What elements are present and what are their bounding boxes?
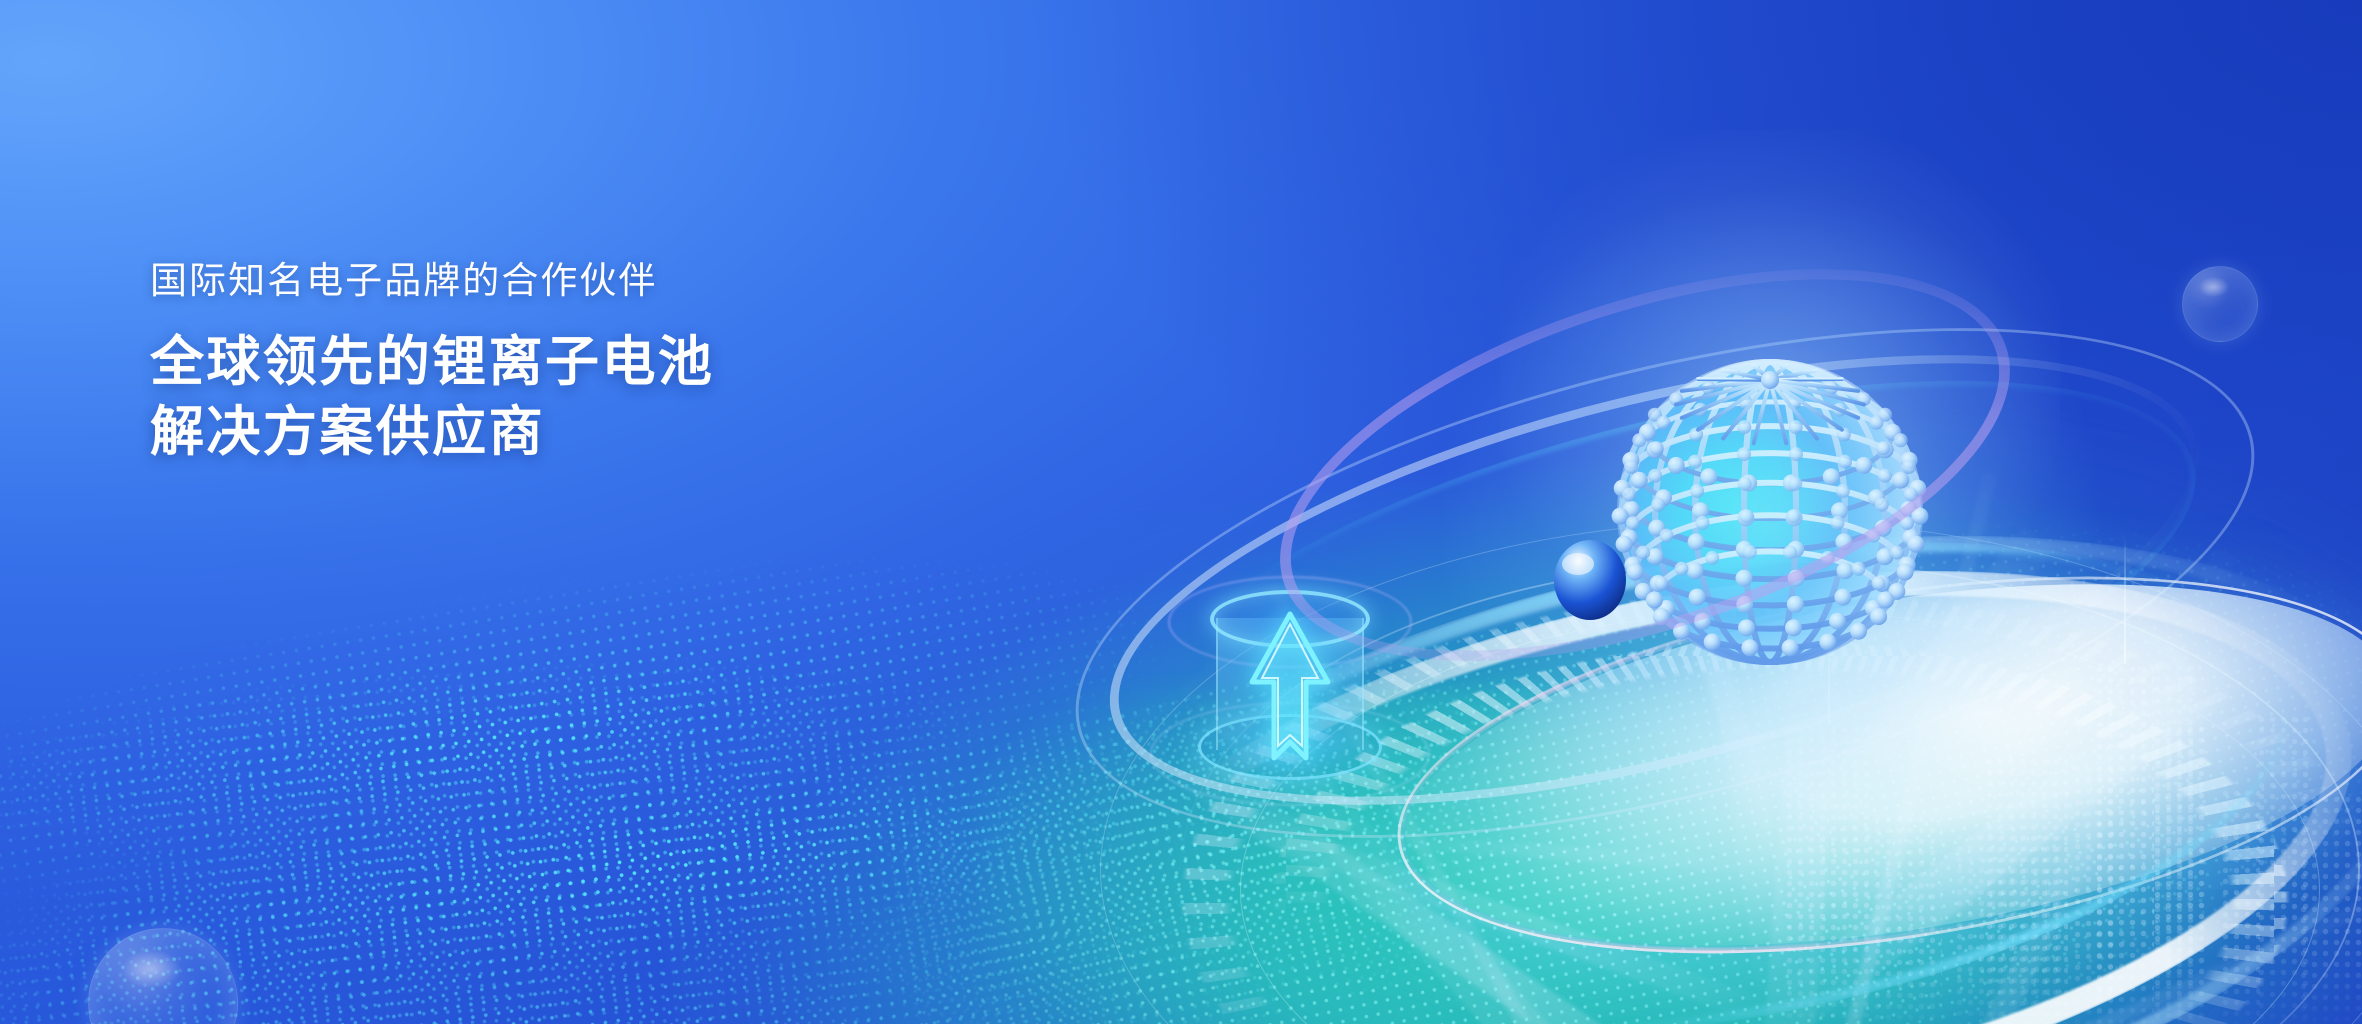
headline-line-1: 全球领先的锂离子电池 (150, 327, 910, 397)
globe-node (1648, 469, 1662, 483)
globe-node (1736, 596, 1753, 613)
globe-node (1740, 509, 1754, 523)
globe-node (1651, 498, 1665, 512)
globe-node (1872, 576, 1886, 590)
globe-node (1785, 619, 1802, 636)
globe-node (1653, 608, 1670, 625)
globe-node (1673, 623, 1690, 640)
globe-node (1837, 562, 1854, 579)
globe-pole-node (1761, 371, 1779, 389)
globe-node (1783, 545, 1797, 559)
up-arrow-icon (1244, 608, 1336, 768)
globe-node (1743, 545, 1757, 559)
globe-node (1705, 551, 1719, 565)
globe-node (1689, 589, 1706, 606)
globe-node (1819, 634, 1836, 651)
globe-node (1624, 460, 1638, 474)
globe-node (1736, 570, 1753, 587)
globe-node (1737, 447, 1751, 461)
globe-node (1782, 639, 1799, 656)
globe-node (1694, 613, 1711, 630)
globe-node (1657, 416, 1671, 430)
globe-node (1897, 564, 1914, 581)
globe-node (1850, 623, 1867, 640)
headline-line-2: 解决方案供应商 (150, 397, 910, 467)
globe-node (1738, 619, 1755, 636)
light-portal (1190, 590, 1390, 790)
globe-node (1650, 441, 1664, 455)
globe-node (1675, 562, 1689, 576)
globe-node (1789, 420, 1803, 434)
globe-svg (1560, 300, 1980, 720)
globe-node (1687, 562, 1704, 579)
globe-node (1788, 477, 1802, 491)
globe-node (1704, 634, 1721, 651)
globe-node (1852, 562, 1866, 576)
globe-node (1632, 433, 1646, 447)
globe-node (1870, 608, 1887, 625)
globe-node (1831, 516, 1845, 530)
globe-node (1877, 592, 1894, 609)
globe-node (1654, 576, 1668, 590)
globe-node (1737, 420, 1751, 434)
globe-node (1741, 639, 1758, 656)
globe-node (1890, 546, 1904, 560)
globe-node (1690, 484, 1704, 498)
globe-node (1834, 589, 1851, 606)
globe-node (1622, 488, 1636, 502)
globe-node (1907, 536, 1924, 553)
globe-node (1696, 516, 1710, 530)
globe-node (1668, 457, 1685, 474)
globe-node (1788, 570, 1805, 587)
globe-node (1875, 498, 1889, 512)
globe-node (1787, 596, 1804, 613)
globe-node (1855, 457, 1872, 474)
globe-node (1688, 533, 1705, 550)
banner-eyebrow: 国际知名电子品牌的合作伙伴 (150, 258, 910, 305)
globe-node (1836, 484, 1850, 498)
globe-node (1870, 416, 1884, 430)
globe-node (1700, 468, 1717, 485)
globe-node (1688, 455, 1702, 469)
globe-node (1867, 529, 1881, 543)
globe-node (1892, 472, 1909, 489)
globe-node (1876, 441, 1890, 455)
globe-node (1789, 447, 1803, 461)
globe-node (1660, 529, 1674, 543)
banner-copy: 国际知名电子品牌的合作伙伴 全球领先的锂离子电池 解决方案供应商 (150, 258, 910, 467)
satellite-node (1530, 520, 1650, 640)
globe-node (1631, 472, 1648, 489)
globe-node (1738, 477, 1752, 491)
globe-node (1823, 468, 1840, 485)
globe-node (1838, 455, 1852, 469)
globe-node (1835, 533, 1852, 550)
globe-node (1821, 551, 1835, 565)
globe-node (1787, 509, 1801, 523)
globe-node (1904, 488, 1918, 502)
globe-node (1902, 460, 1916, 474)
globe-node (1878, 469, 1892, 483)
globe-node (1829, 613, 1846, 630)
hero-banner: 国际知名电子品牌的合作伙伴 全球领先的锂离子电池 解决方案供应商 (0, 0, 2362, 1024)
banner-headline: 全球领先的锂离子电池 解决方案供应商 (150, 327, 910, 467)
globe-node (1894, 433, 1908, 447)
wireframe-globe (1560, 300, 1980, 720)
globe-node (1900, 516, 1914, 530)
